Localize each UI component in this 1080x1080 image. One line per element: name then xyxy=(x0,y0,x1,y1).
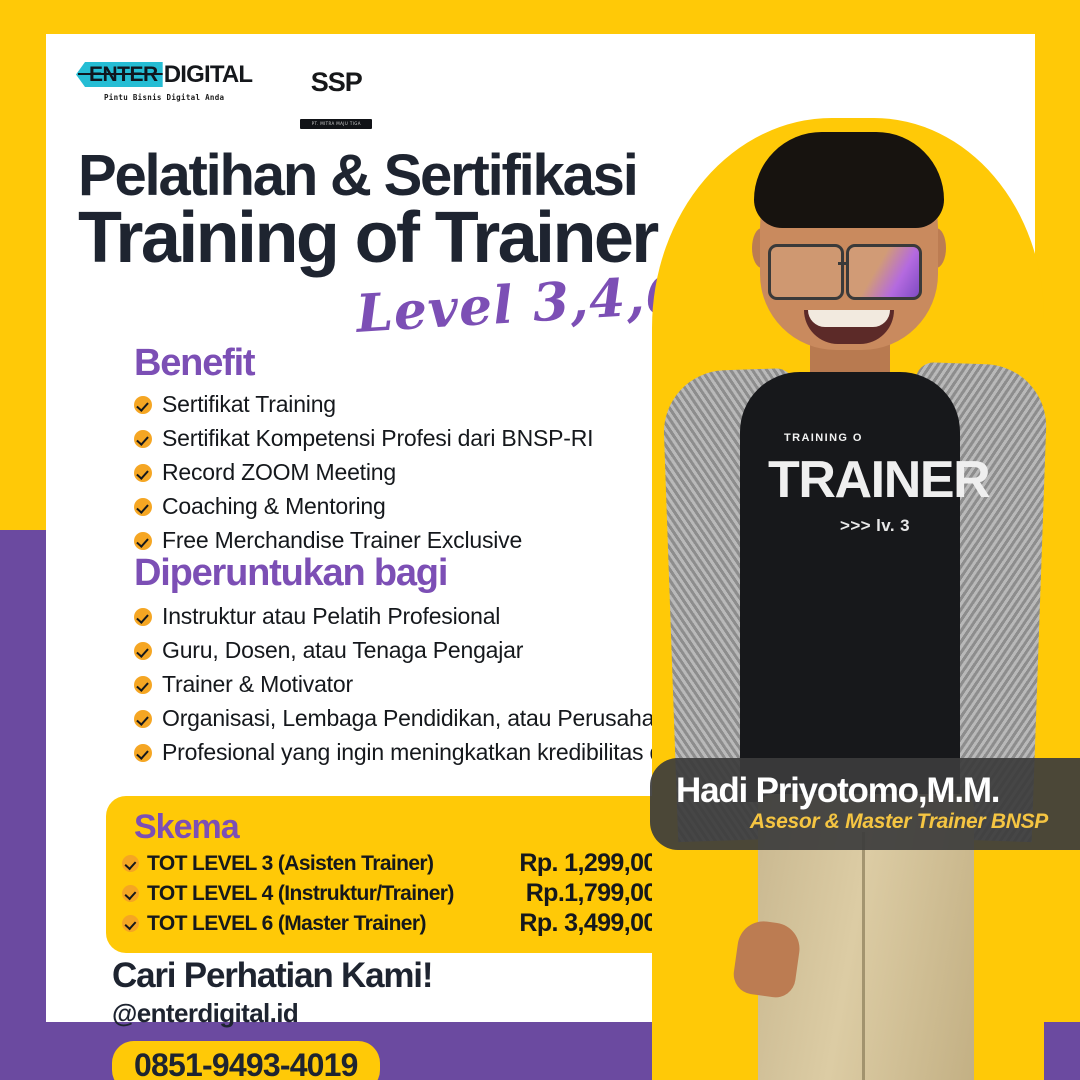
check-circle-icon xyxy=(134,498,152,516)
target-item-label: Trainer & Motivator xyxy=(162,671,353,698)
ssp-company-footer-label: PT. MITRA MAJU TIGA PERSADA xyxy=(300,119,372,129)
eyeglass-lens-right-icon xyxy=(846,244,922,300)
digital-wordmark-label: DIGITAL xyxy=(164,63,253,87)
presenter-name-badge: Hadi Priyotomo,M.M. Asesor & Master Trai… xyxy=(650,758,1080,850)
check-circle-icon xyxy=(122,915,139,932)
enter-digital-wordmark: ENTER DIGITAL xyxy=(76,61,252,88)
check-circle-icon xyxy=(134,532,152,550)
skema-level-label: TOT LEVEL 4 (Instruktur/Trainer) xyxy=(147,882,497,906)
contact-section: Cari Perhatian Kami! @enterdigital.id 08… xyxy=(112,956,432,1080)
check-circle-icon xyxy=(122,885,139,902)
benefit-item-label: Sertifikat Kompetensi Profesi dari BNSP-… xyxy=(162,425,593,452)
check-circle-icon xyxy=(134,608,152,626)
hair xyxy=(754,132,944,228)
benefit-item-label: Record ZOOM Meeting xyxy=(162,459,396,486)
teeth xyxy=(808,310,890,327)
ssp-gradient-ring-icon: SSP xyxy=(297,61,375,117)
instagram-handle-label[interactable]: @enterdigital.id xyxy=(112,998,432,1029)
check-circle-icon xyxy=(134,676,152,694)
headline-line-1: Pelatihan & Sertifikasi xyxy=(78,146,657,206)
table-row: TOT LEVEL 3 (Asisten Trainer) Rp. 1,299,… xyxy=(122,849,670,878)
table-row: TOT LEVEL 6 (Master Trainer) Rp. 3,499,0… xyxy=(122,909,670,938)
presenter-photo: TRAINING O TRAINER >>> lv. 3 xyxy=(630,0,1080,1080)
list-item: Sertifikat Kompetensi Profesi dari BNSP-… xyxy=(134,425,593,452)
target-item-label: Organisasi, Lembaga Pendidikan, atau Per… xyxy=(162,705,679,732)
list-item: Record ZOOM Meeting xyxy=(134,459,593,486)
tshirt-main-text: TRAINER xyxy=(768,450,989,510)
skema-pricing-box: Skema TOT LEVEL 3 (Asisten Trainer) Rp. … xyxy=(106,796,686,953)
check-circle-icon xyxy=(122,855,139,872)
enter-badge-icon: ENTER xyxy=(76,62,163,87)
enter-digital-logo: ENTER DIGITAL Pintu Bisnis Digital Anda xyxy=(76,61,252,102)
list-item: Free Merchandise Trainer Exclusive xyxy=(134,527,593,554)
benefit-heading: Benefit xyxy=(134,342,593,385)
check-circle-icon xyxy=(134,430,152,448)
check-circle-icon xyxy=(134,464,152,482)
target-item-label: Guru, Dosen, atau Tenaga Pengajar xyxy=(162,637,523,664)
check-circle-icon xyxy=(134,710,152,728)
skema-heading: Skema xyxy=(134,808,670,847)
presenter-role-label: Asesor & Master Trainer BNSP xyxy=(676,810,1060,834)
benefit-item-label: Coaching & Mentoring xyxy=(162,493,386,520)
enter-arrow-bar-icon xyxy=(78,73,165,75)
ssp-logo: SSP PT. MITRA MAJU TIGA PERSADA xyxy=(290,61,382,129)
presenter-figure: TRAINING O TRAINER >>> lv. 3 xyxy=(664,132,1036,1080)
table-row: TOT LEVEL 4 (Instruktur/Trainer) Rp.1,79… xyxy=(122,879,670,908)
presenter-name-label: Hadi Priyotomo,M.M. xyxy=(676,772,1060,810)
check-circle-icon xyxy=(134,642,152,660)
headline-block: Pelatihan & Sertifikasi Training of Trai… xyxy=(78,146,657,274)
poster-canvas: ENTER DIGITAL Pintu Bisnis Digital Anda … xyxy=(0,0,1080,1080)
list-item: Sertifikat Training xyxy=(134,391,593,418)
skema-level-label: TOT LEVEL 6 (Master Trainer) xyxy=(147,912,497,936)
enter-digital-tagline: Pintu Bisnis Digital Anda xyxy=(76,93,252,102)
headline-line-2: Training of Trainer xyxy=(78,202,657,274)
check-circle-icon xyxy=(134,396,152,414)
skema-level-label: TOT LEVEL 3 (Asisten Trainer) xyxy=(147,852,497,876)
tshirt-top-text: TRAINING O xyxy=(784,432,863,444)
eyeglass-bridge-icon xyxy=(838,262,846,265)
benefit-item-label: Free Merchandise Trainer Exclusive xyxy=(162,527,522,554)
check-circle-icon xyxy=(134,744,152,762)
logo-row: ENTER DIGITAL Pintu Bisnis Digital Anda … xyxy=(76,61,382,129)
target-item-label: Instruktur atau Pelatih Profesional xyxy=(162,603,500,630)
list-item: Coaching & Mentoring xyxy=(134,493,593,520)
tshirt-level-text: >>> lv. 3 xyxy=(840,516,910,536)
benefit-section: Benefit Sertifikat Training Sertifikat K… xyxy=(134,342,593,561)
benefit-item-label: Sertifikat Training xyxy=(162,391,336,418)
contact-cta-label: Cari Perhatian Kami! xyxy=(112,956,432,996)
pants-seam xyxy=(862,832,865,1080)
ssp-wordmark-label: SSP xyxy=(297,67,375,98)
hand xyxy=(731,918,803,1000)
phone-number-pill[interactable]: 0851-9493-4019 xyxy=(112,1041,380,1080)
purple-left-accent-bar xyxy=(0,530,46,1080)
eyeglass-lens-left-icon xyxy=(768,244,844,300)
benefit-list: Sertifikat Training Sertifikat Kompetens… xyxy=(134,391,593,554)
